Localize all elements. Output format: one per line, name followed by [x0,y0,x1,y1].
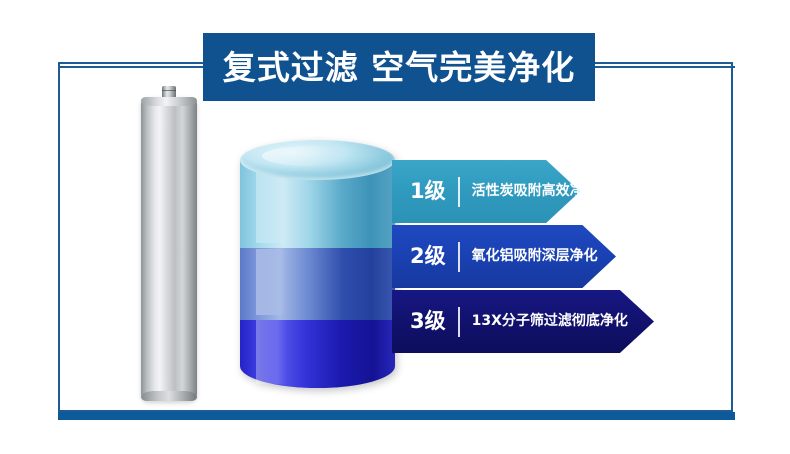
stage-3-divider [458,307,460,337]
stage-arrow-2: 2级 氧化铝吸附深层净化 [392,225,616,288]
gloss-highlight [256,249,287,316]
steel-cartridge-image [141,86,197,401]
stage-1-level-label: 1级 [410,181,458,202]
filter-layer-3-side [240,316,395,388]
stage-3-description: 13X分子筛过滤彻底净化 [472,314,628,329]
filter-layer-1 [240,160,395,248]
stage-2-divider [458,242,460,272]
title-rule-left [58,66,206,68]
stage-arrow-1: 1级 活性炭吸附高效净化 [392,160,580,223]
title-rule-right [592,66,735,68]
filter-layer-3 [240,316,395,388]
stage-2-description: 氧化铝吸附深层净化 [472,249,598,264]
steel-cartridge-body [141,97,197,401]
filter-layer-cylinder [240,140,395,388]
infographic-stage: 复式过滤 空气完美净化 1级 [0,0,790,454]
gloss-highlight [256,320,287,383]
stage-3-level-label: 3级 [410,311,458,332]
filter-layer-2 [240,244,395,320]
frame-bottom-bar [58,412,735,420]
filter-layer-1-top [240,140,395,180]
page-title: 复式过滤 空气完美净化 [223,51,576,84]
stage-1-divider [458,177,460,207]
title-banner: 复式过滤 空气完美净化 [203,33,595,101]
stage-arrow-3: 3级 13X分子筛过滤彻底净化 [392,290,654,353]
filter-layer-2-side [240,244,395,320]
stage-2-level-label: 2级 [410,246,458,267]
